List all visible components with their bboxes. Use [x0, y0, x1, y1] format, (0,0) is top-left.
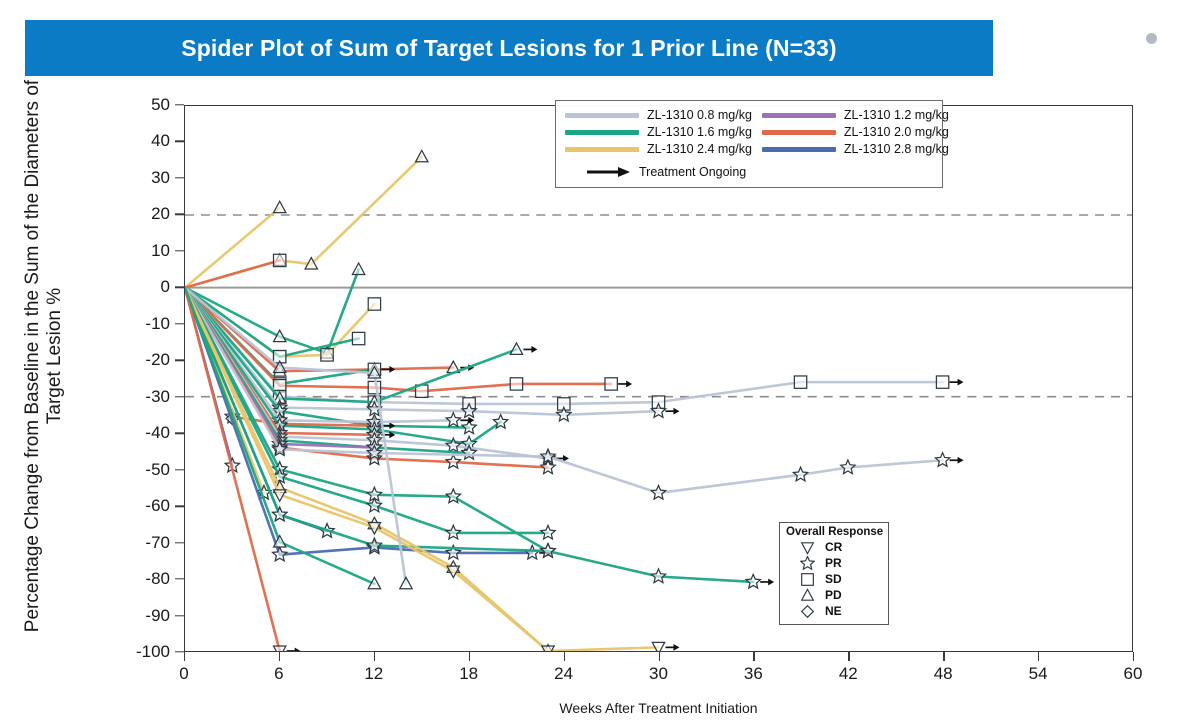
- legend-ongoing-label: Treatment Ongoing: [639, 165, 746, 179]
- y-tick-mark: [175, 214, 184, 215]
- x-tick-label: 60: [1124, 664, 1143, 684]
- legend-item-d12[interactable]: ZL-1310 1.2 mg/kg: [762, 108, 949, 122]
- y-axis-title: Percentage Change from Baseline in the S…: [4, 76, 84, 636]
- x-tick-label: 36: [744, 664, 763, 684]
- marker-PR: [651, 569, 665, 583]
- x-tick-mark: [848, 652, 849, 661]
- legend-color-swatch: [565, 130, 639, 135]
- marker-CR: [542, 646, 554, 651]
- marker-CR: [652, 642, 664, 651]
- response-legend-item-pr[interactable]: PR: [786, 555, 882, 571]
- patient-trajectory: [185, 150, 428, 287]
- x-tick-mark: [469, 652, 470, 661]
- y-tick-mark: [175, 287, 184, 288]
- square-icon: [800, 572, 815, 587]
- x-tick-mark: [659, 652, 660, 661]
- response-legend-label: NE: [825, 604, 842, 618]
- treatment-ongoing-arrow-icon: [287, 648, 301, 651]
- slide-root: Spider Plot of Sum of Target Lesions for…: [0, 0, 1182, 724]
- y-tick-label: -60: [118, 496, 170, 516]
- x-tick-label: 30: [649, 664, 668, 684]
- treatment-ongoing-arrow-icon: [618, 381, 632, 388]
- treatment-ongoing-arrow-icon: [665, 644, 679, 651]
- response-legend-title: Overall Response: [786, 526, 882, 538]
- legend-color-swatch: [762, 113, 836, 118]
- y-tick-mark: [175, 432, 184, 433]
- response-legend: Overall Response CRPRSDPDNE: [779, 522, 889, 625]
- y-tick-mark: [175, 141, 184, 142]
- y-tick-label: 10: [118, 241, 170, 261]
- y-tick-mark: [175, 505, 184, 506]
- legend-color-swatch: [762, 130, 836, 135]
- y-tick-label: -10: [118, 314, 170, 334]
- marker-SD: [605, 378, 617, 390]
- marker-SD: [936, 376, 948, 388]
- marker-PD: [352, 263, 364, 274]
- marker-PR: [446, 413, 460, 427]
- x-tick-mark: [1038, 652, 1039, 661]
- y-tick-mark: [175, 323, 184, 324]
- x-tick-label: 54: [1029, 664, 1048, 684]
- response-legend-item-sd[interactable]: SD: [786, 571, 882, 587]
- x-tick-mark: [753, 652, 754, 661]
- marker-PD: [510, 343, 522, 354]
- marker-SD: [802, 573, 814, 585]
- response-legend-items: CRPRSDPDNE: [786, 539, 882, 619]
- x-tick-label: 24: [554, 664, 573, 684]
- y-tick-mark: [175, 177, 184, 178]
- treatment-ongoing-arrow-icon: [381, 366, 395, 373]
- marker-PD: [400, 577, 412, 588]
- decorative-dot: [1146, 33, 1157, 44]
- response-legend-label: CR: [825, 540, 842, 554]
- legend-item-d16[interactable]: ZL-1310 1.6 mg/kg: [565, 125, 752, 139]
- marker-PR: [273, 547, 287, 561]
- y-tick-label: -70: [118, 533, 170, 553]
- marker-PR: [446, 455, 460, 469]
- marker-PD: [802, 589, 814, 600]
- y-tick-label: 30: [118, 168, 170, 188]
- marker-PD: [274, 201, 286, 212]
- marker-PR: [541, 449, 555, 463]
- legend-item-label: ZL-1310 0.8 mg/kg: [647, 108, 752, 122]
- marker-SD: [368, 298, 380, 310]
- treatment-ongoing-arrow-icon: [760, 579, 774, 586]
- x-tick-label: 42: [839, 664, 858, 684]
- marker-PR: [541, 525, 555, 539]
- treatment-ongoing-arrow-icon: [950, 457, 964, 464]
- marker-CR: [274, 646, 286, 651]
- marker-SD: [274, 254, 286, 266]
- marker-PR: [651, 485, 665, 499]
- star-icon: [800, 556, 815, 571]
- marker-PR: [367, 498, 381, 512]
- marker-PR: [746, 574, 760, 588]
- legend-treatment-ongoing: Treatment Ongoing: [565, 165, 933, 179]
- legend-color-swatch: [565, 113, 639, 118]
- treatment-ongoing-arrow-icon: [523, 346, 537, 353]
- marker-PR: [935, 453, 949, 467]
- y-tick-label: -20: [118, 350, 170, 370]
- x-tick-mark: [564, 652, 565, 661]
- treatment-ongoing-arrow-icon: [665, 408, 679, 415]
- x-tick-label: 12: [364, 664, 383, 684]
- y-tick-mark: [175, 396, 184, 397]
- y-tick-mark: [175, 469, 184, 470]
- marker-PR: [541, 460, 555, 474]
- marker-PD: [416, 150, 428, 161]
- y-tick-mark: [175, 542, 184, 543]
- legend-item-d20[interactable]: ZL-1310 2.0 mg/kg: [762, 125, 949, 139]
- marker-SD: [321, 349, 333, 361]
- marker-PR: [801, 556, 814, 569]
- legend-color-swatch: [565, 147, 639, 152]
- legend-color-swatch: [762, 147, 836, 152]
- legend-item-label: ZL-1310 1.2 mg/kg: [844, 108, 949, 122]
- x-tick-mark: [184, 652, 185, 661]
- response-legend-label: PR: [825, 556, 842, 570]
- page-title: Spider Plot of Sum of Target Lesions for…: [181, 35, 836, 62]
- y-tick-label: -40: [118, 423, 170, 443]
- diamond-icon: [800, 604, 815, 619]
- legend-item-label: ZL-1310 2.8 mg/kg: [844, 142, 949, 156]
- down-triangle-icon: [800, 540, 815, 555]
- y-tick-mark: [175, 615, 184, 616]
- legend-item-label: ZL-1310 2.0 mg/kg: [844, 125, 949, 139]
- x-tick-label: 6: [274, 664, 283, 684]
- y-tick-label: -80: [118, 569, 170, 589]
- y-tick-label: 20: [118, 204, 170, 224]
- legend-item-d28[interactable]: ZL-1310 2.8 mg/kg: [762, 142, 949, 156]
- y-tick-label: 50: [118, 95, 170, 115]
- marker-SD: [368, 381, 380, 393]
- marker-CR: [802, 542, 814, 553]
- legend-item-label: ZL-1310 1.6 mg/kg: [647, 125, 752, 139]
- y-tick-mark: [175, 578, 184, 579]
- x-tick-label: 48: [934, 664, 953, 684]
- patient-trajectory: [185, 288, 964, 499]
- arrow-right-icon: [585, 166, 631, 178]
- x-tick-mark: [1133, 652, 1134, 661]
- up-triangle-icon: [800, 588, 815, 603]
- y-tick-mark: [175, 250, 184, 251]
- response-legend-item-pd[interactable]: PD: [786, 587, 882, 603]
- marker-SD: [352, 332, 364, 344]
- response-legend-label: SD: [825, 572, 842, 586]
- y-tick-mark: [175, 104, 184, 105]
- y-tick-mark: [175, 360, 184, 361]
- marker-PD: [274, 330, 286, 341]
- y-tick-mark: [175, 651, 184, 652]
- x-tick-label: 18: [459, 664, 478, 684]
- x-tick-mark: [374, 652, 375, 661]
- y-tick-label: -30: [118, 387, 170, 407]
- spider-plot-chart: Percentage Change from Baseline in the S…: [0, 86, 1182, 724]
- patient-trajectory: [185, 254, 286, 287]
- marker-PR: [793, 467, 807, 481]
- marker-PR: [273, 507, 287, 521]
- y-tick-label: 0: [118, 277, 170, 297]
- legend-item-d24[interactable]: ZL-1310 2.4 mg/kg: [565, 142, 752, 156]
- treatment-ongoing-arrow-icon: [950, 379, 964, 386]
- marker-PR: [841, 460, 855, 474]
- x-tick-mark: [943, 652, 944, 661]
- marker-PR: [367, 538, 381, 552]
- marker-SD: [794, 376, 806, 388]
- y-tick-label: -90: [118, 606, 170, 626]
- response-legend-item-cr[interactable]: CR: [786, 539, 882, 555]
- response-legend-label: PD: [825, 588, 842, 602]
- response-legend-item-ne[interactable]: NE: [786, 603, 882, 619]
- patient-trajectory: [185, 288, 964, 410]
- marker-PR: [446, 525, 460, 539]
- marker-PR: [541, 544, 555, 558]
- x-axis-title: Weeks After Treatment Initiation: [184, 700, 1133, 716]
- marker-SD: [510, 378, 522, 390]
- title-banner: Spider Plot of Sum of Target Lesions for…: [25, 20, 993, 76]
- x-tick-label: 0: [179, 664, 188, 684]
- legend-item-label: ZL-1310 2.4 mg/kg: [647, 142, 752, 156]
- y-tick-label: 40: [118, 131, 170, 151]
- legend-item-d08[interactable]: ZL-1310 0.8 mg/kg: [565, 108, 752, 122]
- y-tick-label: -50: [118, 460, 170, 480]
- marker-NE: [802, 605, 814, 617]
- dose-legend: ZL-1310 0.8 mg/kgZL-1310 1.2 mg/kgZL-131…: [555, 100, 943, 188]
- dose-legend-grid: ZL-1310 0.8 mg/kgZL-1310 1.2 mg/kgZL-131…: [565, 108, 933, 156]
- marker-PR: [525, 545, 539, 559]
- x-tick-mark: [279, 652, 280, 661]
- y-tick-label: -100: [118, 642, 170, 662]
